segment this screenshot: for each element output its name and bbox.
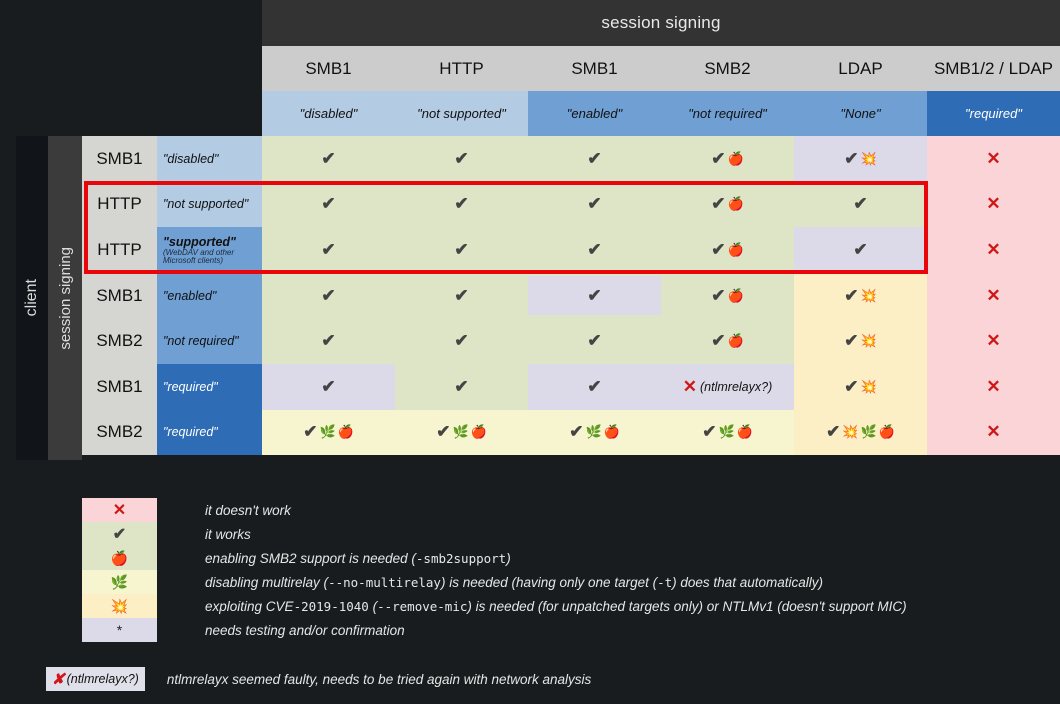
check-icon: ✔ bbox=[321, 377, 335, 397]
table-row: SMB1"enabled"✔✔✔✔🍎✔💥✕ bbox=[82, 273, 1060, 319]
row-header-value-main: "not required" bbox=[163, 334, 239, 348]
check-icon: ✔ bbox=[587, 149, 601, 169]
legend-flag: -2019-1040 bbox=[294, 599, 369, 614]
check-icon: ✔ bbox=[454, 194, 468, 214]
check-icon: ✔ bbox=[844, 149, 858, 169]
check-icon: ✔ bbox=[321, 194, 335, 214]
asterisk-icon: * bbox=[117, 622, 122, 638]
check-icon: ✔ bbox=[587, 286, 601, 306]
check-icon: ✔ bbox=[436, 422, 450, 442]
matrix-cell: ✔💥 bbox=[794, 273, 927, 319]
row-header-protocol: HTTP bbox=[82, 182, 157, 228]
explosion-icon: 💥 bbox=[861, 151, 877, 167]
explosion-icon: 💥 bbox=[111, 598, 128, 615]
legend-flag: --remove-mic bbox=[377, 599, 467, 614]
legend-text: it doesn't work bbox=[205, 503, 291, 518]
row-header-value: "not required" bbox=[157, 318, 262, 364]
matrix-cell: ✔ bbox=[528, 227, 661, 273]
matrix-cell: ✕ bbox=[927, 182, 1060, 228]
legend-row: 💥exploiting CVE-2019-1040 (--remove-mic)… bbox=[82, 594, 982, 618]
herb-icon: 🌿 bbox=[452, 424, 468, 440]
legend-text: enabling SMB2 support is needed (-smb2su… bbox=[205, 551, 511, 566]
legend-flag: --no-multirelay bbox=[328, 575, 441, 590]
check-icon: ✔ bbox=[569, 422, 583, 442]
row-header-protocol: SMB2 bbox=[82, 410, 157, 456]
row-header-value-sub: (WebDAV and other Microsoft clients) bbox=[163, 249, 262, 266]
row-header-protocol: SMB1 bbox=[82, 273, 157, 319]
apple-icon: 🍎 bbox=[728, 151, 744, 167]
matrix-cell: ✕ bbox=[927, 227, 1060, 273]
legend-swatch: ✔ bbox=[82, 522, 157, 546]
matrix-cell: ✔ bbox=[262, 273, 395, 319]
herb-icon: 🌿 bbox=[111, 574, 128, 591]
cross-icon: ✕ bbox=[986, 422, 1000, 442]
matrix-cell: ✔ bbox=[794, 182, 927, 228]
row-header-value: "not supported" bbox=[157, 182, 262, 228]
check-icon: ✔ bbox=[853, 194, 867, 214]
apple-icon: 🍎 bbox=[728, 196, 744, 212]
check-icon: ✔ bbox=[826, 422, 840, 442]
explosion-icon: 💥 bbox=[861, 379, 877, 395]
legend-row: ✔it works bbox=[82, 522, 982, 546]
matrix-cell: ✔ bbox=[395, 182, 528, 228]
matrix-cell: ✔ bbox=[262, 227, 395, 273]
row-header-value-main: "disabled" bbox=[163, 152, 218, 166]
legend-text: needs testing and/or confirmation bbox=[205, 623, 405, 638]
matrix-cell: ✔🌿🍎 bbox=[528, 410, 661, 456]
apple-icon: 🍎 bbox=[111, 550, 128, 567]
cross-icon: ✕ bbox=[986, 194, 1000, 214]
row-header-value-main: "supported" bbox=[163, 235, 236, 249]
column-header-protocol: SMB1 bbox=[528, 46, 661, 91]
legend-swatch: 💥 bbox=[82, 594, 157, 618]
herb-icon: 🌿 bbox=[718, 424, 734, 440]
row-header-value: "required" bbox=[157, 410, 262, 456]
check-icon: ✔ bbox=[844, 286, 858, 306]
row-header-value-main: "enabled" bbox=[163, 289, 216, 303]
check-icon: ✔ bbox=[711, 149, 725, 169]
apple-icon: 🍎 bbox=[728, 333, 744, 349]
matrix-cell: ✔ bbox=[262, 364, 395, 410]
row-header-value-main: "required" bbox=[163, 425, 218, 439]
explosion-icon: 💥 bbox=[842, 424, 858, 440]
row-header-value-main: "required" bbox=[163, 380, 218, 394]
column-header-value: "not supported" bbox=[395, 91, 528, 136]
matrix-cell: ✔ bbox=[262, 318, 395, 364]
table-row: HTTP"supported"(WebDAV and other Microso… bbox=[82, 227, 1060, 273]
legend: ✕it doesn't work✔it works🍎enabling SMB2 … bbox=[82, 498, 982, 642]
row-axis-title-session-signing-label: session signing bbox=[57, 247, 74, 350]
cross-icon: ✕ bbox=[683, 377, 697, 397]
check-icon: ✔ bbox=[844, 377, 858, 397]
footnote: ✘(ntlmrelayx?) ntlmrelayx seemed faulty,… bbox=[46, 667, 591, 691]
column-header-value-row: "disabled""not supported""enabled""not r… bbox=[262, 91, 1060, 136]
table-row: SMB2"not required"✔✔✔✔🍎✔💥✕ bbox=[82, 318, 1060, 364]
matrix-cell: ✕ bbox=[927, 410, 1060, 456]
check-icon: ✔ bbox=[711, 194, 725, 214]
matrix-cell: ✕(ntlmrelayx?) bbox=[661, 364, 794, 410]
column-header-value: "disabled" bbox=[262, 91, 395, 136]
check-icon: ✔ bbox=[454, 377, 468, 397]
apple-icon: 🍎 bbox=[604, 424, 620, 440]
matrix-cell: ✕ bbox=[927, 273, 1060, 319]
legend-row: ✕it doesn't work bbox=[82, 498, 982, 522]
matrix-cell: ✕ bbox=[927, 318, 1060, 364]
legend-text: it works bbox=[205, 527, 251, 542]
matrix-corner-block bbox=[0, 0, 262, 46]
herb-icon: 🌿 bbox=[861, 424, 877, 440]
matrix-cell: ✔🌿🍎 bbox=[395, 410, 528, 456]
column-header-value: "None" bbox=[794, 91, 927, 136]
cross-icon: ✕ bbox=[986, 240, 1000, 260]
matrix-cell: ✕ bbox=[927, 364, 1060, 410]
row-cells: ✔✔✔✔🍎✔✕ bbox=[262, 227, 1060, 273]
table-row: SMB2"required"✔🌿🍎✔🌿🍎✔🌿🍎✔🌿🍎✔💥🌿🍎✕ bbox=[82, 410, 1060, 456]
matrix-cell: ✔🍎 bbox=[661, 318, 794, 364]
row-header-protocol: SMB1 bbox=[82, 136, 157, 182]
legend-flag: -t bbox=[657, 575, 672, 590]
matrix-body: SMB1"disabled"✔✔✔✔🍎✔💥✕HTTP"not supported… bbox=[82, 136, 1060, 455]
matrix-cell: ✔ bbox=[262, 136, 395, 182]
row-axis-title-client: client bbox=[16, 136, 48, 460]
matrix-cell: ✔ bbox=[528, 273, 661, 319]
check-icon: ✔ bbox=[702, 422, 716, 442]
cell-note: (ntlmrelayx?) bbox=[700, 380, 772, 394]
check-icon: ✔ bbox=[321, 331, 335, 351]
matrix-cell: ✔🌿🍎 bbox=[661, 410, 794, 456]
matrix-cell: ✔🌿🍎 bbox=[262, 410, 395, 456]
column-header-value: "enabled" bbox=[528, 91, 661, 136]
row-cells: ✔✔✔✔🍎✔✕ bbox=[262, 182, 1060, 228]
check-icon: ✔ bbox=[711, 286, 725, 306]
matrix-cell: ✔💥🌿🍎 bbox=[794, 410, 927, 456]
footnote-chip: ✘(ntlmrelayx?) bbox=[46, 667, 145, 691]
check-icon: ✔ bbox=[321, 240, 335, 260]
matrix-cell: ✕ bbox=[927, 136, 1060, 182]
row-header-protocol: HTTP bbox=[82, 227, 157, 273]
check-icon: ✔ bbox=[303, 422, 317, 442]
legend-row: 🌿disabling multirelay (--no-multirelay) … bbox=[82, 570, 982, 594]
apple-icon: 🍎 bbox=[737, 424, 753, 440]
legend-swatch: ✕ bbox=[82, 498, 157, 522]
table-row: SMB1"required"✔✔✔✕(ntlmrelayx?)✔💥✕ bbox=[82, 364, 1060, 410]
matrix-cell: ✔ bbox=[262, 182, 395, 228]
legend-flag: -smb2support bbox=[416, 551, 506, 566]
cross-icon: ✕ bbox=[113, 500, 126, 520]
column-header-protocol: SMB1 bbox=[262, 46, 395, 91]
column-header-protocol: SMB1/2 / LDAP bbox=[927, 46, 1060, 91]
row-axis-title-session-signing: session signing bbox=[48, 136, 82, 460]
matrix-cell: ✔ bbox=[395, 273, 528, 319]
column-header-protocol: SMB2 bbox=[661, 46, 794, 91]
cross-icon: ✕ bbox=[986, 149, 1000, 169]
matrix-cell: ✔ bbox=[528, 182, 661, 228]
check-icon: ✔ bbox=[587, 331, 601, 351]
column-header-value: "required" bbox=[927, 91, 1060, 136]
footnote-text: ntlmrelayx seemed faulty, needs to be tr… bbox=[167, 672, 591, 687]
row-header-value: "enabled" bbox=[157, 273, 262, 319]
matrix-cell: ✔ bbox=[395, 364, 528, 410]
column-header-protocol: LDAP bbox=[794, 46, 927, 91]
row-header-value: "required" bbox=[157, 364, 262, 410]
column-axis-title: session signing bbox=[262, 0, 1060, 46]
check-icon: ✔ bbox=[587, 240, 601, 260]
cross-icon: ✕ bbox=[986, 377, 1000, 397]
cross-icon: ✘ bbox=[52, 670, 65, 688]
column-header-protocol: HTTP bbox=[395, 46, 528, 91]
matrix-cell: ✔🍎 bbox=[661, 273, 794, 319]
table-row: HTTP"not supported"✔✔✔✔🍎✔✕ bbox=[82, 182, 1060, 228]
matrix-cell: ✔ bbox=[528, 318, 661, 364]
matrix-cell: ✔💥 bbox=[794, 136, 927, 182]
legend-text: disabling multirelay (--no-multirelay) i… bbox=[205, 575, 823, 590]
row-axis-title-client-label: client bbox=[23, 279, 41, 316]
matrix-cell: ✔🍎 bbox=[661, 182, 794, 228]
row-cells: ✔✔✔✔🍎✔💥✕ bbox=[262, 136, 1060, 182]
table-row: SMB1"disabled"✔✔✔✔🍎✔💥✕ bbox=[82, 136, 1060, 182]
legend-row: *needs testing and/or confirmation bbox=[82, 618, 982, 642]
check-icon: ✔ bbox=[321, 286, 335, 306]
row-cells: ✔🌿🍎✔🌿🍎✔🌿🍎✔🌿🍎✔💥🌿🍎✕ bbox=[262, 410, 1060, 456]
matrix-cell: ✔🍎 bbox=[661, 136, 794, 182]
legend-swatch: * bbox=[82, 618, 157, 642]
check-icon: ✔ bbox=[711, 331, 725, 351]
legend-row: 🍎enabling SMB2 support is needed (-smb2s… bbox=[82, 546, 982, 570]
apple-icon: 🍎 bbox=[728, 242, 744, 258]
legend-swatch: 🍎 bbox=[82, 546, 157, 570]
matrix-cell: ✔ bbox=[395, 318, 528, 364]
check-icon: ✔ bbox=[711, 240, 725, 260]
row-header-protocol: SMB2 bbox=[82, 318, 157, 364]
explosion-icon: 💥 bbox=[861, 288, 877, 304]
explosion-icon: 💥 bbox=[861, 333, 877, 349]
legend-text: exploiting CVE-2019-1040 (--remove-mic) … bbox=[205, 599, 907, 614]
apple-icon: 🍎 bbox=[728, 288, 744, 304]
matrix-cell: ✔💥 bbox=[794, 318, 927, 364]
check-icon: ✔ bbox=[321, 149, 335, 169]
footnote-chip-label: (ntlmrelayx?) bbox=[67, 672, 139, 686]
check-icon: ✔ bbox=[113, 524, 126, 544]
row-cells: ✔✔✔✔🍎✔💥✕ bbox=[262, 273, 1060, 319]
row-header-value-main: "not supported" bbox=[163, 197, 248, 211]
row-header-value: "disabled" bbox=[157, 136, 262, 182]
column-header-value: "not required" bbox=[661, 91, 794, 136]
row-cells: ✔✔✔✕(ntlmrelayx?)✔💥✕ bbox=[262, 364, 1060, 410]
column-header-protocol-row: SMB1HTTPSMB1SMB2LDAPSMB1/2 / LDAP bbox=[262, 46, 1060, 91]
cross-icon: ✕ bbox=[986, 331, 1000, 351]
check-icon: ✔ bbox=[587, 194, 601, 214]
matrix-cell: ✔💥 bbox=[794, 364, 927, 410]
check-icon: ✔ bbox=[454, 240, 468, 260]
apple-icon: 🍎 bbox=[471, 424, 487, 440]
check-icon: ✔ bbox=[454, 331, 468, 351]
check-icon: ✔ bbox=[853, 240, 867, 260]
herb-icon: 🌿 bbox=[319, 424, 335, 440]
compatibility-matrix: session signing SMB1HTTPSMB1SMB2LDAPSMB1… bbox=[0, 0, 1060, 460]
check-icon: ✔ bbox=[454, 286, 468, 306]
check-icon: ✔ bbox=[454, 149, 468, 169]
column-axis-title-label: session signing bbox=[601, 13, 720, 33]
matrix-cell: ✔ bbox=[395, 136, 528, 182]
check-icon: ✔ bbox=[844, 331, 858, 351]
matrix-cell: ✔ bbox=[528, 136, 661, 182]
apple-icon: 🍎 bbox=[338, 424, 354, 440]
check-icon: ✔ bbox=[587, 377, 601, 397]
matrix-cell: ✔🍎 bbox=[661, 227, 794, 273]
herb-icon: 🌿 bbox=[585, 424, 601, 440]
matrix-cell: ✔ bbox=[395, 227, 528, 273]
apple-icon: 🍎 bbox=[879, 424, 895, 440]
row-header-value: "supported"(WebDAV and other Microsoft c… bbox=[157, 227, 262, 273]
matrix-cell: ✔ bbox=[528, 364, 661, 410]
legend-swatch: 🌿 bbox=[82, 570, 157, 594]
row-cells: ✔✔✔✔🍎✔💥✕ bbox=[262, 318, 1060, 364]
row-header-protocol: SMB1 bbox=[82, 364, 157, 410]
matrix-cell: ✔ bbox=[794, 227, 927, 273]
cross-icon: ✕ bbox=[986, 286, 1000, 306]
